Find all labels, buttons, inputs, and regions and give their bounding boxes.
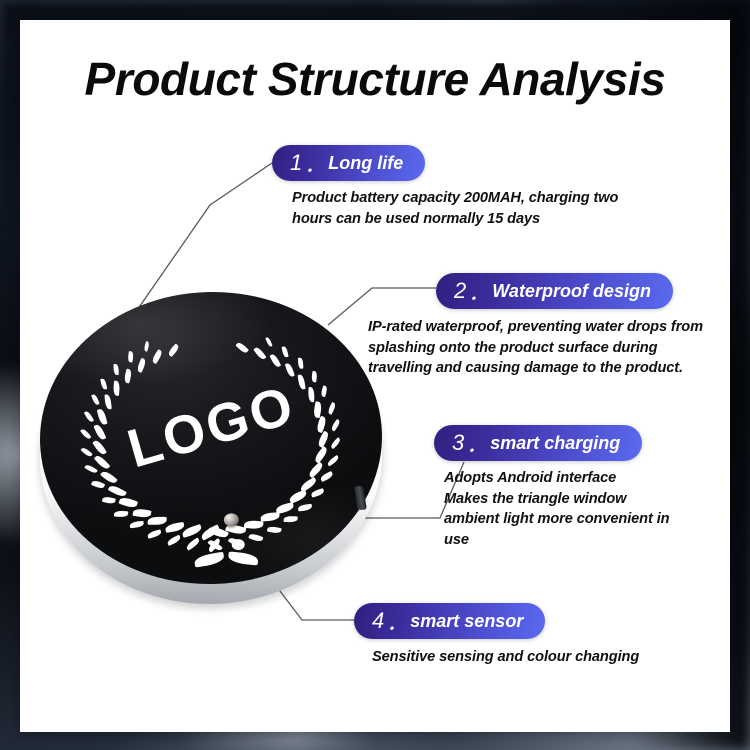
feature-separator-2: ．: [468, 275, 489, 307]
feature-badge-4[interactable]: 4 ． smart sensor: [354, 603, 545, 639]
laurel-leaf: [115, 510, 129, 517]
laurel-leaf: [100, 378, 107, 390]
laurel-leaf: [320, 472, 334, 483]
feature-separator-3: ．: [466, 427, 487, 459]
laurel-leaf: [90, 393, 99, 405]
feature-badge-1[interactable]: 1 ． Long life: [272, 145, 425, 181]
laurel-leaf: [167, 343, 180, 356]
feature-description-3: Adopts Android interface Makes the trian…: [444, 468, 702, 551]
laurel-leaf: [123, 368, 132, 383]
infographic-stage: Product Structure Analysis LOGO: [0, 0, 750, 750]
laurel-leaf: [299, 358, 304, 369]
laurel-leaf: [282, 346, 289, 357]
laurel-leaf: [108, 483, 127, 498]
feature-description-1: Product battery capacity 200MAH, chargin…: [292, 188, 644, 229]
laurel-leaf: [311, 488, 325, 497]
feature-label-4: smart sensor: [410, 611, 523, 632]
laurel-leaf: [275, 502, 295, 514]
laurel-leaf: [264, 337, 272, 348]
feature-description-2: IP-rated waterproof, preventing water dr…: [368, 317, 708, 379]
laurel-leaf: [84, 463, 98, 474]
page-title: Product Structure Analysis: [20, 52, 730, 106]
feature-number-4: 4: [372, 608, 383, 634]
laurel-leaf: [330, 437, 342, 449]
laurel-leaf: [330, 419, 341, 432]
laurel-leaf: [148, 517, 167, 525]
laurel-leaf: [81, 445, 94, 457]
feature-description-4: Sensitive sensing and colour changing: [372, 647, 702, 668]
laurel-leaf: [236, 341, 249, 354]
feature-badge-2[interactable]: 2 ． Waterproof design: [436, 273, 673, 309]
product-emblem-face: LOGO: [35, 286, 387, 590]
laurel-leaf: [113, 364, 118, 375]
feature-number-1: 1: [290, 150, 301, 176]
laurel-leaf: [147, 529, 162, 539]
laurel-leaf-tip: [228, 551, 259, 565]
laurel-leaf: [267, 525, 282, 534]
feature-badge-3[interactable]: 3 ． smart charging: [434, 425, 642, 461]
laurel-leaf: [132, 507, 151, 518]
content-card: Product Structure Analysis LOGO: [20, 20, 730, 732]
laurel-leaf: [113, 381, 120, 396]
feature-number-3: 3: [452, 430, 463, 456]
laurel-leaf: [288, 490, 308, 504]
laurel-leaf: [326, 454, 339, 466]
feature-separator-4: ．: [386, 605, 407, 637]
laurel-leaf: [248, 532, 264, 543]
laurel-leaf: [253, 346, 266, 360]
laurel-leaf: [298, 503, 312, 511]
laurel-leaf: [101, 496, 115, 504]
feature-label-3: smart charging: [490, 433, 620, 454]
laurel-leaf: [84, 410, 94, 423]
laurel-leaf: [136, 358, 147, 373]
laurel-leaf: [97, 408, 107, 425]
laurel-leaf: [144, 341, 151, 352]
laurel-leaf: [186, 537, 202, 550]
product-illustration: LOGO: [34, 278, 394, 598]
laurel-leaf: [104, 394, 112, 410]
laurel-leaf: [128, 351, 134, 362]
feature-label-1: Long life: [328, 153, 403, 174]
laurel-leaf: [164, 522, 184, 533]
feature-separator-1: ．: [304, 147, 325, 179]
laurel-leaf: [299, 476, 318, 492]
laurel-leaf: [181, 524, 202, 538]
feature-number-2: 2: [454, 278, 465, 304]
laurel-leaf: [130, 521, 144, 528]
laurel-leaf: [261, 513, 280, 522]
laurel-leaf: [150, 349, 162, 364]
laurel-leaf: [270, 353, 282, 368]
laurel-leaf: [316, 431, 330, 449]
laurel-leaf: [313, 446, 329, 464]
feature-label-2: Waterproof design: [492, 281, 651, 302]
laurel-leaf: [119, 496, 138, 509]
laurel-leaf-tip: [194, 552, 225, 568]
laurel-leaf: [284, 516, 298, 522]
laurel-leaf: [166, 535, 182, 547]
